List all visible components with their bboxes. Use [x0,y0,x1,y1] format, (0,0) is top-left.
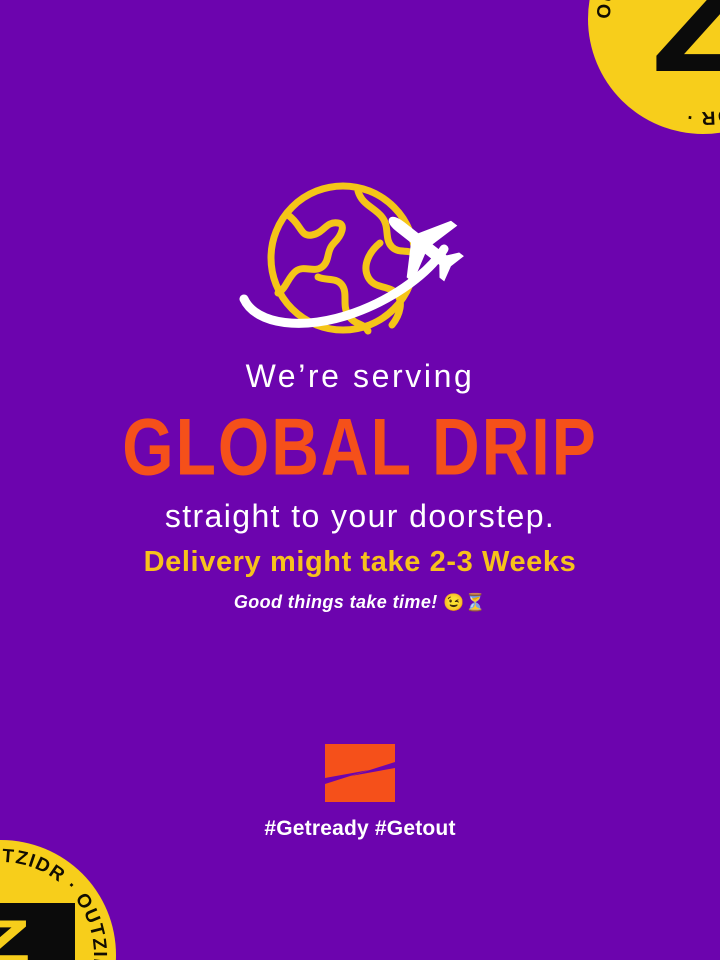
wink-face-emoji: 😉 [443,593,465,612]
seal-core-letter: Z [651,0,720,78]
hashtags-text: #Getready #Getout [0,818,720,839]
hero-illustration [0,168,720,358]
brand-seal-top-right: OUTZIDR · OUTZIDR · OUTZIDR · OUTZIDR · … [588,0,720,134]
delivery-sub-label: Good things take time! [234,592,438,612]
delivery-notice-block: Delivery might take 2-3 Weeks Good thing… [0,548,720,611]
seal-core-bottom-left: Z OUTZIDR [0,903,75,960]
seal-core-letter: Z [0,919,27,960]
outzidr-z-logo [321,742,399,804]
hourglass-emoji: ⏳ [465,593,487,612]
seal-core-top-right: Z [628,0,720,94]
delivery-sub-text: Good things take time! 😉⏳ [0,593,720,611]
brand-seal-bottom-left: OUTZIDR · OUTZIDR · OUTZIDR · OUTZIDR · … [0,840,116,960]
airplane-icon [367,190,476,297]
globe-airplane-icon [230,173,490,353]
poster-canvas: OUTZIDR · OUTZIDR · OUTZIDR · OUTZIDR · … [0,0,720,960]
headline-line-global-drip: GLOBAL DRIP [0,406,720,487]
delivery-eta-text: Delivery might take 2-3 Weeks [0,548,720,577]
headline-line-doorstep: straight to your doorstep. [0,500,720,532]
globe-continent-right [366,243,400,325]
headline-line-serving: We’re serving [0,360,720,392]
footer-brand-block: #Getready #Getout [0,742,720,839]
headline-block: We’re serving GLOBAL DRIP straight to yo… [0,360,720,532]
